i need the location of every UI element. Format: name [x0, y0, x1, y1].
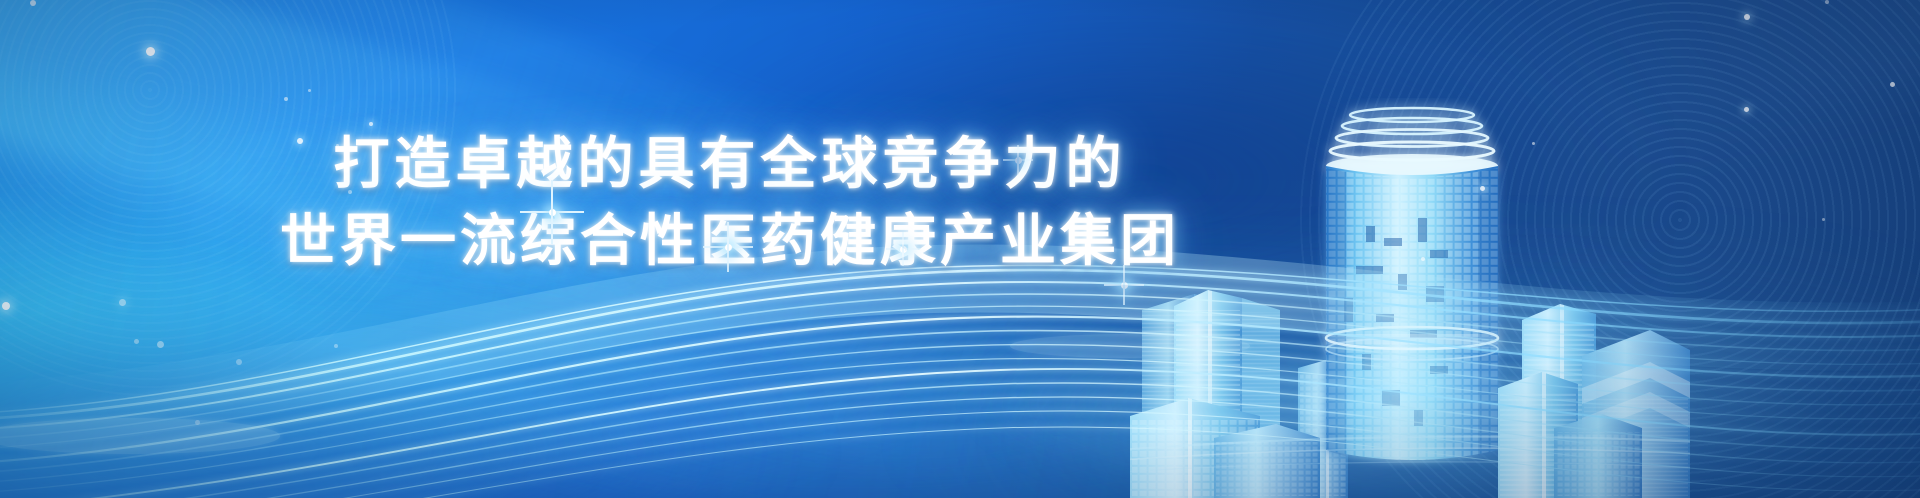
particle-4 — [336, 144, 339, 147]
light-band-1 — [0, 0, 1566, 498]
particle-19 — [1825, 0, 1829, 4]
ripple-arcs-left — [0, 0, 460, 400]
sparkle-2 — [703, 222, 753, 272]
light-band-2 — [0, 0, 1691, 498]
streak-convergence-glow — [0, 418, 280, 454]
wave-crest-soft — [0, 244, 1920, 452]
particle-5 — [348, 190, 352, 194]
base-sweep-lines — [1130, 437, 1690, 472]
particle-15 — [1744, 14, 1750, 20]
building-front-left — [1130, 398, 1320, 498]
streak-highlight-right — [1010, 334, 1250, 358]
particle-12 — [334, 344, 338, 348]
particle-11 — [195, 420, 200, 425]
particle-22 — [308, 89, 311, 92]
particle-17 — [1744, 107, 1749, 112]
light-band-3 — [0, 0, 1778, 498]
hero-headline: 打造卓越的具有全球竞争力的 世界一流综合性医药健康产业集团 — [0, 126, 1460, 281]
streak-group-upper — [0, 265, 1920, 450]
particle-14 — [1532, 142, 1535, 145]
light-band-4 — [0, 110, 1862, 498]
headline-line-1: 打造卓越的具有全球竞争力的 — [0, 126, 1460, 203]
ripple-arcs-right — [1300, 0, 1920, 498]
particle-3 — [297, 138, 303, 144]
particle-7 — [2, 302, 10, 310]
sparkle-4 — [886, 232, 920, 266]
central-cylindrical-tower — [1320, 108, 1506, 468]
mist-dark — [640, 0, 1640, 360]
particle-6 — [119, 299, 126, 306]
particle-2 — [369, 122, 373, 126]
particle-8 — [157, 341, 164, 348]
building-front-right — [1498, 372, 1642, 498]
particle-9 — [134, 339, 139, 344]
streak-group-lower — [0, 369, 1920, 498]
particle-21 — [30, 0, 36, 6]
building-slim-left — [1298, 360, 1348, 498]
tower-crown — [1330, 108, 1494, 160]
building-back-left — [1142, 294, 1234, 498]
mist-2 — [210, 185, 1730, 498]
particle-13 — [1480, 186, 1485, 191]
vignette-overlay — [0, 0, 1920, 498]
particle-10 — [236, 359, 242, 365]
city-ground-glow — [960, 358, 1860, 498]
particle-16 — [1890, 82, 1895, 87]
sparkle-3 — [1104, 265, 1144, 305]
mist-3 — [0, 300, 800, 498]
mist-4 — [920, 258, 1920, 498]
flowing-light-streaks — [0, 168, 1920, 498]
particle-23 — [284, 97, 288, 101]
sparkle-5 — [1003, 145, 1033, 175]
city-skyline-illustration — [1130, 98, 1690, 498]
hero-banner: 打造卓越的具有全球竞争力的 世界一流综合性医药健康产业集团 — [0, 0, 1920, 498]
building-left-twin — [1174, 290, 1280, 498]
particle-1 — [146, 47, 155, 56]
light-band-5 — [1020, 0, 1920, 288]
particle-18 — [1822, 218, 1825, 221]
mist-1 — [0, 38, 1282, 498]
sparkle-1 — [520, 180, 584, 244]
building-right-stepped — [1522, 304, 1596, 498]
particle-20 — [1421, 257, 1425, 261]
building-right-chevron — [1582, 330, 1690, 498]
headline-line-2: 世界一流综合性医药健康产业集团 — [0, 203, 1460, 280]
streak-group-mid — [0, 317, 1920, 494]
